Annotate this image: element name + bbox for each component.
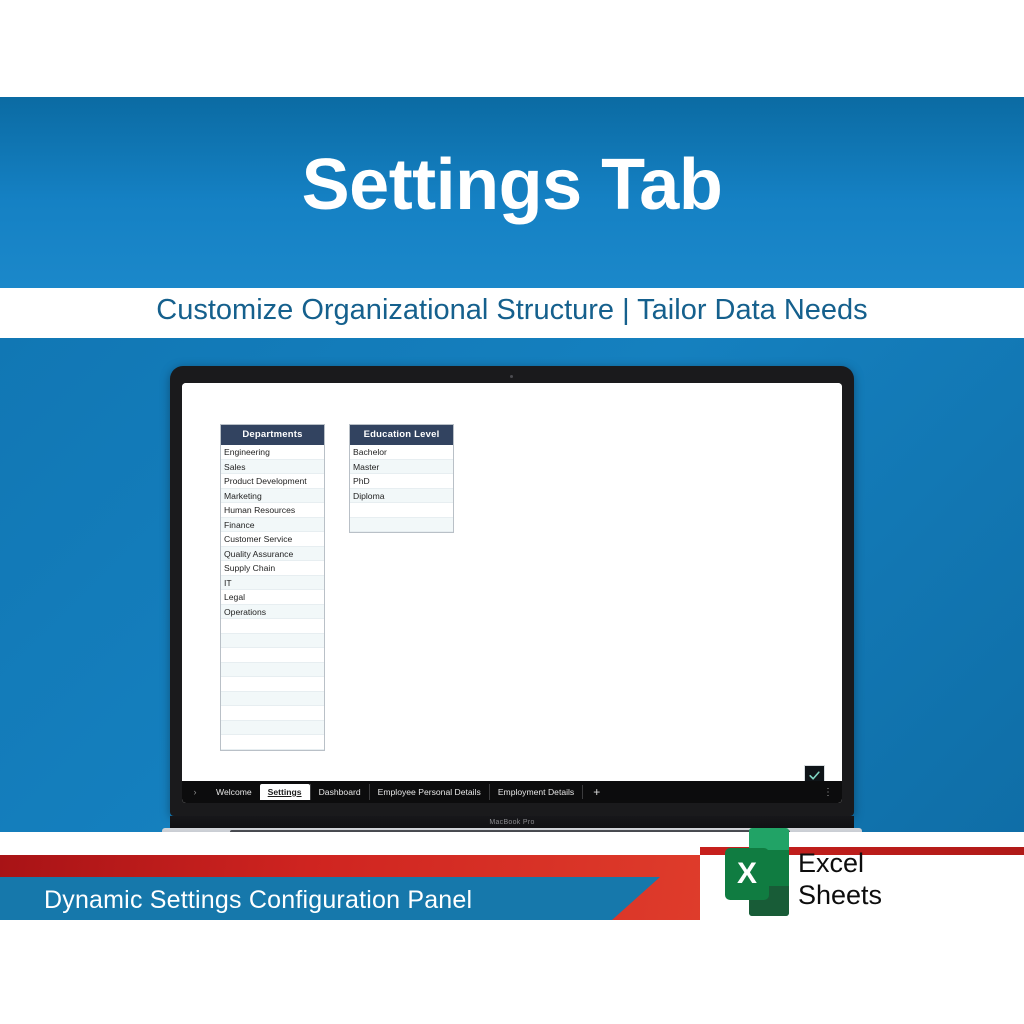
bottom-margin: [0, 920, 1024, 1024]
table-header-departments: Departments: [221, 425, 324, 445]
add-sheet-button[interactable]: +: [582, 785, 610, 799]
table-row-empty[interactable]: [350, 518, 453, 533]
table-row[interactable]: Sales: [221, 460, 324, 475]
top-margin: [0, 0, 1024, 97]
table-row[interactable]: Quality Assurance: [221, 547, 324, 562]
table-education-level[interactable]: Education Level BachelorMasterPhDDiploma: [349, 424, 454, 533]
laptop-screen: Departments EngineeringSalesProduct Deve…: [182, 383, 842, 803]
sheet-tab-bar[interactable]: › WelcomeSettingsDashboardEmployee Perso…: [182, 781, 842, 803]
table-body-departments[interactable]: EngineeringSalesProduct DevelopmentMarke…: [221, 445, 324, 750]
table-row[interactable]: IT: [221, 576, 324, 591]
table-row-empty[interactable]: [221, 735, 324, 750]
sheet-tab-settings[interactable]: Settings: [260, 784, 310, 800]
page-subtitle: Customize Organizational Structure | Tai…: [0, 294, 1024, 327]
sheet-more-button[interactable]: ⋮: [823, 787, 842, 798]
table-row-empty[interactable]: [221, 663, 324, 678]
table-row[interactable]: Supply Chain: [221, 561, 324, 576]
page-root: Settings Tab Customize Organizational St…: [0, 0, 1024, 1024]
table-row[interactable]: Engineering: [221, 445, 324, 460]
table-row-empty[interactable]: [221, 648, 324, 663]
table-row[interactable]: Master: [350, 460, 453, 475]
table-row[interactable]: Diploma: [350, 489, 453, 504]
brand-name: Excel Sheets: [798, 847, 882, 911]
hero-banner: Settings Tab: [0, 97, 1024, 288]
table-row-empty[interactable]: [221, 692, 324, 707]
brand-name-line2: Sheets: [798, 879, 882, 911]
table-row-empty[interactable]: [221, 677, 324, 692]
table-row-empty[interactable]: [350, 503, 453, 518]
table-body-education-level[interactable]: BachelorMasterPhDDiploma: [350, 445, 453, 532]
webcam-icon: [510, 375, 513, 378]
spreadsheet-canvas[interactable]: Departments EngineeringSalesProduct Deve…: [182, 383, 842, 803]
footer-caption: Dynamic Settings Configuration Panel: [44, 886, 472, 915]
table-header-education-level: Education Level: [350, 425, 453, 445]
table-row-empty[interactable]: [221, 634, 324, 649]
laptop-lid: Departments EngineeringSalesProduct Deve…: [170, 366, 854, 816]
excel-logo-icon: X: [725, 828, 789, 916]
table-row[interactable]: Finance: [221, 518, 324, 533]
table-row[interactable]: Marketing: [221, 489, 324, 504]
table-row[interactable]: Customer Service: [221, 532, 324, 547]
sheet-tab-employee-personal-details[interactable]: Employee Personal Details: [369, 784, 489, 800]
brand-name-line1: Excel: [798, 847, 882, 879]
table-row[interactable]: Product Development: [221, 474, 324, 489]
table-row[interactable]: Operations: [221, 605, 324, 620]
table-row[interactable]: Bachelor: [350, 445, 453, 460]
excel-logo-letter: X: [725, 848, 769, 900]
sheet-nav-arrow-icon[interactable]: ›: [182, 787, 208, 797]
laptop-mockup: Departments EngineeringSalesProduct Deve…: [162, 366, 862, 836]
table-row-empty[interactable]: [221, 706, 324, 721]
table-row-empty[interactable]: [221, 721, 324, 736]
sheet-tab-dashboard[interactable]: Dashboard: [310, 784, 369, 800]
table-row[interactable]: Legal: [221, 590, 324, 605]
sheet-tab-welcome[interactable]: Welcome: [208, 784, 260, 800]
sheet-tabs[interactable]: WelcomeSettingsDashboardEmployee Persona…: [208, 784, 582, 800]
table-row[interactable]: Human Resources: [221, 503, 324, 518]
page-title: Settings Tab: [0, 149, 1024, 221]
table-row-empty[interactable]: [221, 619, 324, 634]
table-row[interactable]: PhD: [350, 474, 453, 489]
sheet-tab-employment-details[interactable]: Employment Details: [489, 784, 582, 800]
table-departments[interactable]: Departments EngineeringSalesProduct Deve…: [220, 424, 325, 751]
